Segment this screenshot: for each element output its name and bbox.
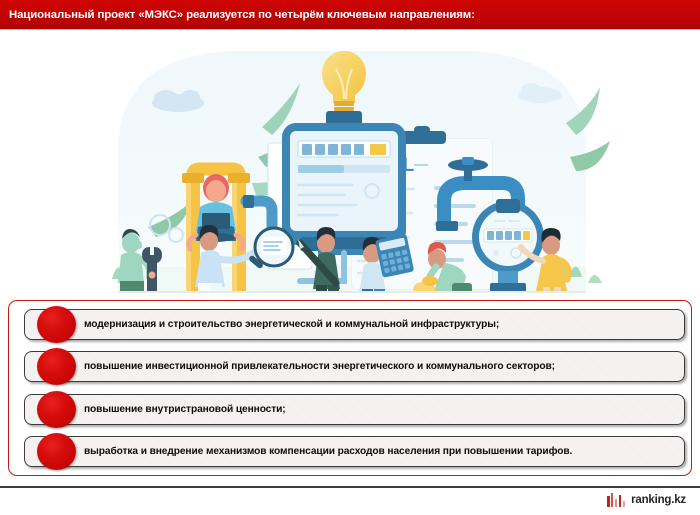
bullet-circle-icon (37, 433, 76, 470)
header-bar: Национальный проект «МЭКС» реализуется п… (0, 0, 700, 30)
page-title: Национальный проект «МЭКС» реализуется п… (0, 9, 475, 21)
list-item-label: повышение внутристрановой ценности; (84, 391, 286, 428)
list-item-label: модернизация и строительство энергетичес… (84, 306, 499, 343)
illustration-panel: BILL (0, 31, 700, 293)
ranking-bars-icon (607, 493, 625, 507)
footer: ranking.kz (0, 488, 700, 515)
list-item[interactable]: модернизация и строительство энергетичес… (16, 306, 684, 343)
bullet-circle-icon (37, 391, 76, 428)
bullet-circle-icon (37, 306, 76, 343)
brand-name: ranking.kz (631, 494, 686, 506)
list-item-label: выработка и внедрение механизмов компенс… (84, 433, 572, 470)
brand-logo[interactable]: ranking.kz (607, 493, 686, 507)
list-item[interactable]: выработка и внедрение механизмов компенс… (16, 433, 684, 470)
utilities-illustration-svg: BILL (0, 31, 700, 293)
list-item-label: повышение инвестиционной привлекательнос… (84, 348, 555, 385)
slide-root: Национальный проект «МЭКС» реализуется п… (0, 0, 700, 515)
list-item[interactable]: повышение внутристрановой ценности; (16, 391, 684, 428)
directions-list: модернизация и строительство энергетичес… (8, 300, 692, 476)
list-item[interactable]: повышение инвестиционной привлекательнос… (16, 348, 684, 385)
